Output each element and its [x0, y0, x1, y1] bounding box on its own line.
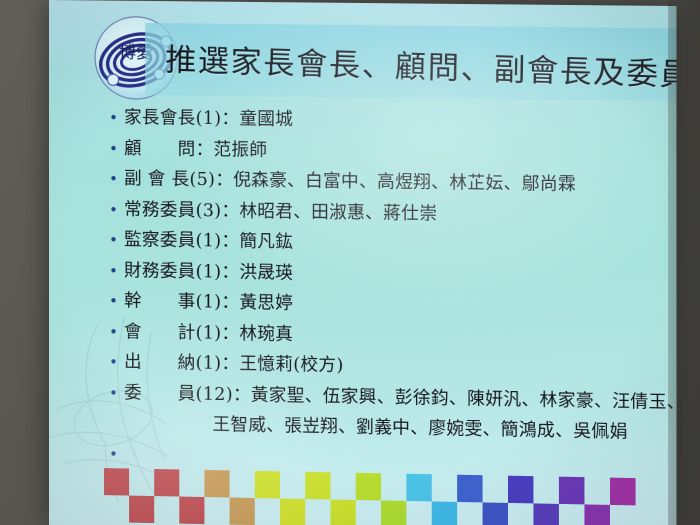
- checker-tile: [179, 497, 204, 525]
- bullet-icon: •: [109, 104, 124, 132]
- bullet-icon: •: [109, 348, 124, 376]
- checker-tile: [508, 476, 533, 504]
- checker-tile: [457, 475, 482, 503]
- checker-tile: [432, 501, 457, 525]
- bullet-icon: •: [109, 195, 124, 223]
- bullet-icon: •: [109, 134, 124, 162]
- checker-tile: [154, 469, 179, 497]
- list-item-label: 幹 事(1)：: [124, 287, 239, 317]
- checker-tile: [406, 474, 431, 502]
- checker-tile: [584, 504, 610, 525]
- list-item-value: 范振師: [213, 140, 267, 161]
- checker-tile: [204, 470, 229, 498]
- checker-tile: [255, 471, 280, 499]
- checker-tile: [356, 473, 381, 501]
- list-item-value: 簡凡鈜: [239, 232, 293, 253]
- officer-list: • 家長會長(1)：童國城 • 顧 問：范振師 • 副 會 長(5)：倪森豪、白…: [109, 104, 676, 477]
- rainbow-checker-strip: [49, 463, 677, 525]
- list-item-text: 常務委員(3)：林昭君、田淑惠、蔣仕崇: [124, 196, 676, 232]
- list-item-label: 委 員(12)：: [124, 379, 251, 409]
- list-item-label: 會 計(1)：: [124, 318, 239, 348]
- list-item-value: 林琬真: [239, 324, 293, 345]
- checker-tile: [559, 477, 585, 505]
- list-item-value: 黃思婷: [239, 293, 293, 314]
- checker-tile: [104, 468, 129, 496]
- list-item-label: 財務委員(1)：: [124, 257, 239, 287]
- list-item-text: 家長會長(1)：童國城: [124, 104, 676, 139]
- bullet-icon: •: [109, 379, 124, 407]
- list-item-text: 顧 問：范振師: [124, 134, 676, 169]
- checker-tile: [381, 500, 406, 525]
- checker-tile: [610, 478, 636, 506]
- list-item-label: 常務委員(3)：: [124, 196, 239, 226]
- bullet-icon: •: [109, 226, 124, 254]
- checker-tile: [330, 499, 355, 525]
- list-item-label: 家長會長(1)：: [124, 104, 239, 133]
- projected-slide-photo: 博愛 推選家長會長、顧問、副會長及委員 • 家長會長(1)：童國城 • 顧 問：…: [0, 0, 700, 525]
- list-item-label: 顧 問：: [124, 134, 213, 163]
- list-item-label: 副 會 長(5)：: [124, 165, 233, 195]
- list-item-value: 黃家聖、伍家興、彭徐鈞、陳妍汎、林家豪、汪倩玉、: [251, 385, 677, 413]
- checker-tile: [280, 498, 305, 525]
- checker-tile: [230, 498, 255, 525]
- bullet-icon: •: [109, 256, 124, 284]
- bullet-icon: •: [109, 165, 124, 193]
- slide-canvas: 博愛 推選家長會長、顧問、副會長及委員 • 家長會長(1)：童國城 • 顧 問：…: [49, 0, 677, 525]
- list-item-value: 王憶莉(校方): [239, 354, 343, 376]
- checker-tile: [129, 496, 154, 524]
- wall-right: [668, 0, 700, 525]
- list-item-text: 副 會 長(5)：倪森豪、白富中、高煜翔、林芷妘、鄔尚霖: [124, 165, 676, 200]
- checker-tile: [483, 502, 508, 525]
- checker-tile: [533, 503, 558, 525]
- checker-tile: [305, 472, 330, 500]
- bullet-icon: •: [109, 317, 124, 345]
- list-item-value: 倪森豪、白富中、高煜翔、林芷妘、鄔尚霖: [233, 170, 576, 195]
- bullet-icon: •: [109, 287, 124, 315]
- list-item-label: 監察委員(1)：: [124, 226, 239, 256]
- projection-screen: 博愛 推選家長會長、顧問、副會長及委員 • 家長會長(1)：童國城 • 顧 問：…: [49, 0, 677, 525]
- list-item-label: 出 納(1)：: [124, 348, 239, 378]
- list-item-value: 童國城: [239, 109, 293, 130]
- list-item-value: 林昭君、田淑惠、蔣仕崇: [239, 201, 437, 224]
- list-item-value: 洪晟瑛: [239, 262, 293, 283]
